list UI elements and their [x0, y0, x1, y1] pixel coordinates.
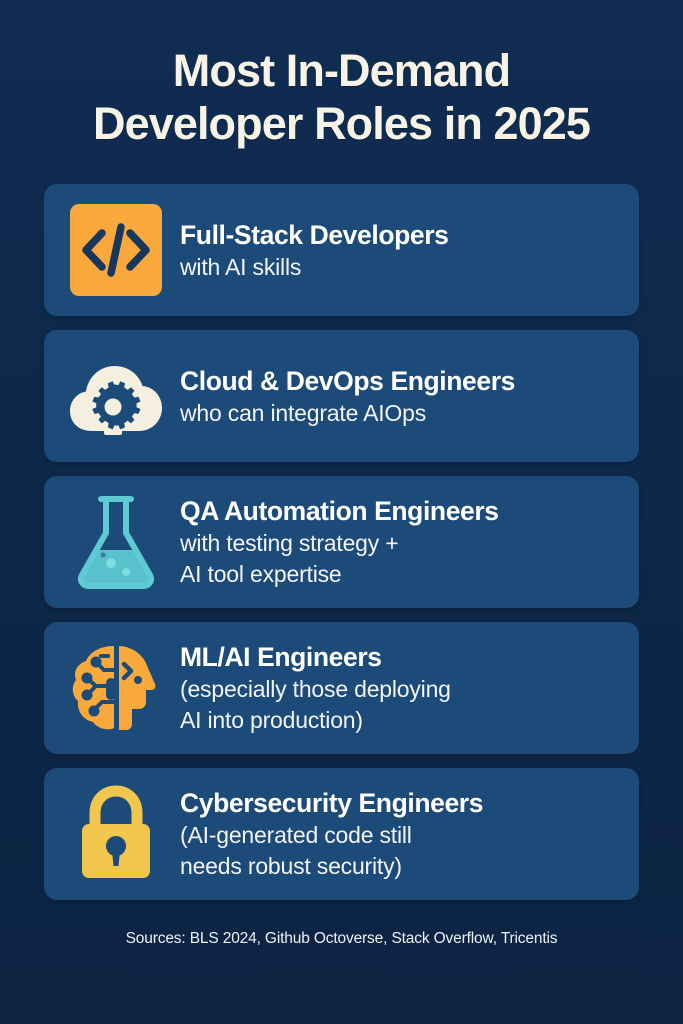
role-heading: Cloud & DevOps Engineers	[180, 365, 515, 397]
sources-footer: Sources: BLS 2024, Github Octoverse, Sta…	[0, 930, 683, 948]
role-heading: Cybersecurity Engineers	[180, 787, 483, 819]
flask-icon	[66, 492, 166, 592]
role-subtitle-line-1: with testing strategy +	[180, 529, 499, 558]
cloud-gear-icon	[66, 346, 166, 446]
infographic-poster: Most In-Demand Developer Roles in 2025 F…	[0, 0, 683, 1024]
role-card-list: Full-Stack Developers with AI skills	[44, 184, 639, 900]
role-subtitle-line-2: AI tool expertise	[180, 560, 499, 589]
page-title-line-2: Developer Roles in 2025	[0, 97, 683, 150]
role-subtitle-line-2: AI into production)	[180, 706, 451, 735]
role-subtitle-line-1: (AI-generated code still	[180, 821, 483, 850]
ai-brain-head-icon	[66, 638, 166, 738]
role-card-qa-automation: QA Automation Engineers with testing str…	[44, 476, 639, 608]
role-subtitle-line-1: with AI skills	[180, 253, 448, 282]
page-title-line-1: Most In-Demand	[0, 44, 683, 97]
role-card-text: ML/AI Engineers (especially those deploy…	[166, 641, 451, 735]
padlock-icon	[66, 784, 166, 884]
role-heading: QA Automation Engineers	[180, 495, 499, 527]
role-card-ml-ai: ML/AI Engineers (especially those deploy…	[44, 622, 639, 754]
role-card-full-stack: Full-Stack Developers with AI skills	[44, 184, 639, 316]
role-card-text: QA Automation Engineers with testing str…	[166, 495, 499, 589]
code-brackets-icon	[66, 200, 166, 300]
role-heading: Full-Stack Developers	[180, 219, 448, 251]
role-card-text: Cybersecurity Engineers (AI-generated co…	[166, 787, 483, 881]
page-title: Most In-Demand Developer Roles in 2025	[0, 0, 683, 150]
role-card-cybersecurity: Cybersecurity Engineers (AI-generated co…	[44, 768, 639, 900]
role-subtitle-line-1: who can integrate AIOps	[180, 399, 515, 428]
role-subtitle-line-1: (especially those deploying	[180, 675, 451, 704]
role-heading: ML/AI Engineers	[180, 641, 451, 673]
role-card-cloud-devops: Cloud & DevOps Engineers who can integra…	[44, 330, 639, 462]
role-subtitle-line-2: needs robust security)	[180, 852, 483, 881]
role-card-text: Full-Stack Developers with AI skills	[166, 219, 448, 282]
role-card-text: Cloud & DevOps Engineers who can integra…	[166, 365, 515, 428]
